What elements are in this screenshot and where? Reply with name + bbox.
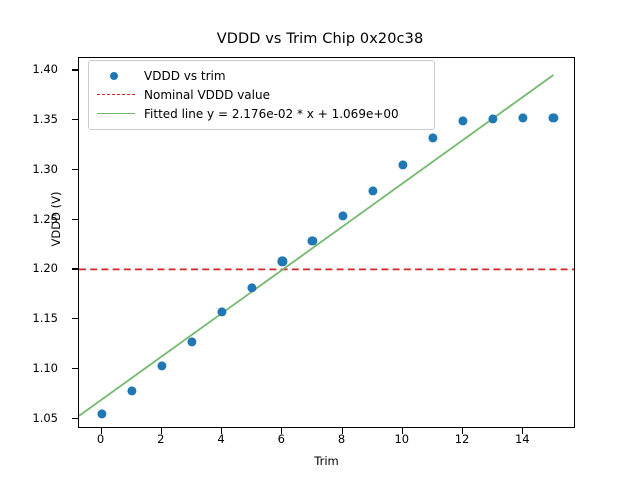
- legend-dot: [110, 72, 118, 80]
- y-tick-label: 1.40: [0, 62, 58, 76]
- chart-title: VDDD vs Trim Chip 0x20c38: [0, 31, 640, 47]
- x-tick-label: 14: [502, 432, 542, 446]
- legend-dashed-line-icon: [97, 88, 135, 102]
- x-tick-label: 8: [322, 432, 362, 446]
- legend-item-vddd-vs-trim: VDDD vs trim: [97, 66, 426, 85]
- legend-label-1: Nominal VDDD value: [144, 88, 270, 102]
- legend-dash: [97, 94, 135, 95]
- legend-label-2: Fitted line y = 2.176e-02 * x + 1.069e+0…: [144, 107, 399, 121]
- x-tick-mark: [101, 428, 102, 435]
- y-tick-label: 1.30: [0, 162, 58, 176]
- x-tick-mark: [161, 428, 162, 435]
- y-tick-label: 1.05: [0, 411, 58, 425]
- legend-label-0: VDDD vs trim: [144, 69, 226, 83]
- x-tick-mark: [462, 428, 463, 435]
- y-tick-label: 1.15: [0, 311, 58, 325]
- x-tick-mark: [221, 428, 222, 435]
- x-tick-label: 12: [442, 432, 482, 446]
- y-tick-label: 1.35: [0, 112, 58, 126]
- x-axis-label: Trim: [78, 454, 575, 468]
- x-tick-label: 2: [141, 432, 181, 446]
- y-tick-label: 1.10: [0, 361, 58, 375]
- legend-item-nominal-vddd: Nominal VDDD value: [97, 85, 426, 104]
- chart-legend: VDDD vs trim Nominal VDDD value Fitted l…: [88, 60, 435, 130]
- x-tick-label: 10: [382, 432, 422, 446]
- legend-marker-icon: [97, 69, 135, 83]
- x-tick-label: 6: [261, 432, 301, 446]
- y-tick-label: 1.25: [0, 212, 58, 226]
- legend-solid-line-icon: [97, 107, 135, 121]
- x-tick-label: 4: [201, 432, 241, 446]
- x-tick-label: 0: [81, 432, 121, 446]
- legend-item-fitted-line: Fitted line y = 2.176e-02 * x + 1.069e+0…: [97, 104, 426, 123]
- legend-line: [97, 113, 135, 115]
- x-tick-mark: [402, 428, 403, 435]
- x-tick-mark: [281, 428, 282, 435]
- x-tick-mark: [522, 428, 523, 435]
- y-tick-label: 1.20: [0, 261, 58, 275]
- x-tick-mark: [342, 428, 343, 435]
- chart-figure: VDDD vs Trim Chip 0x20c38 VDDD (V) Trim …: [0, 0, 640, 480]
